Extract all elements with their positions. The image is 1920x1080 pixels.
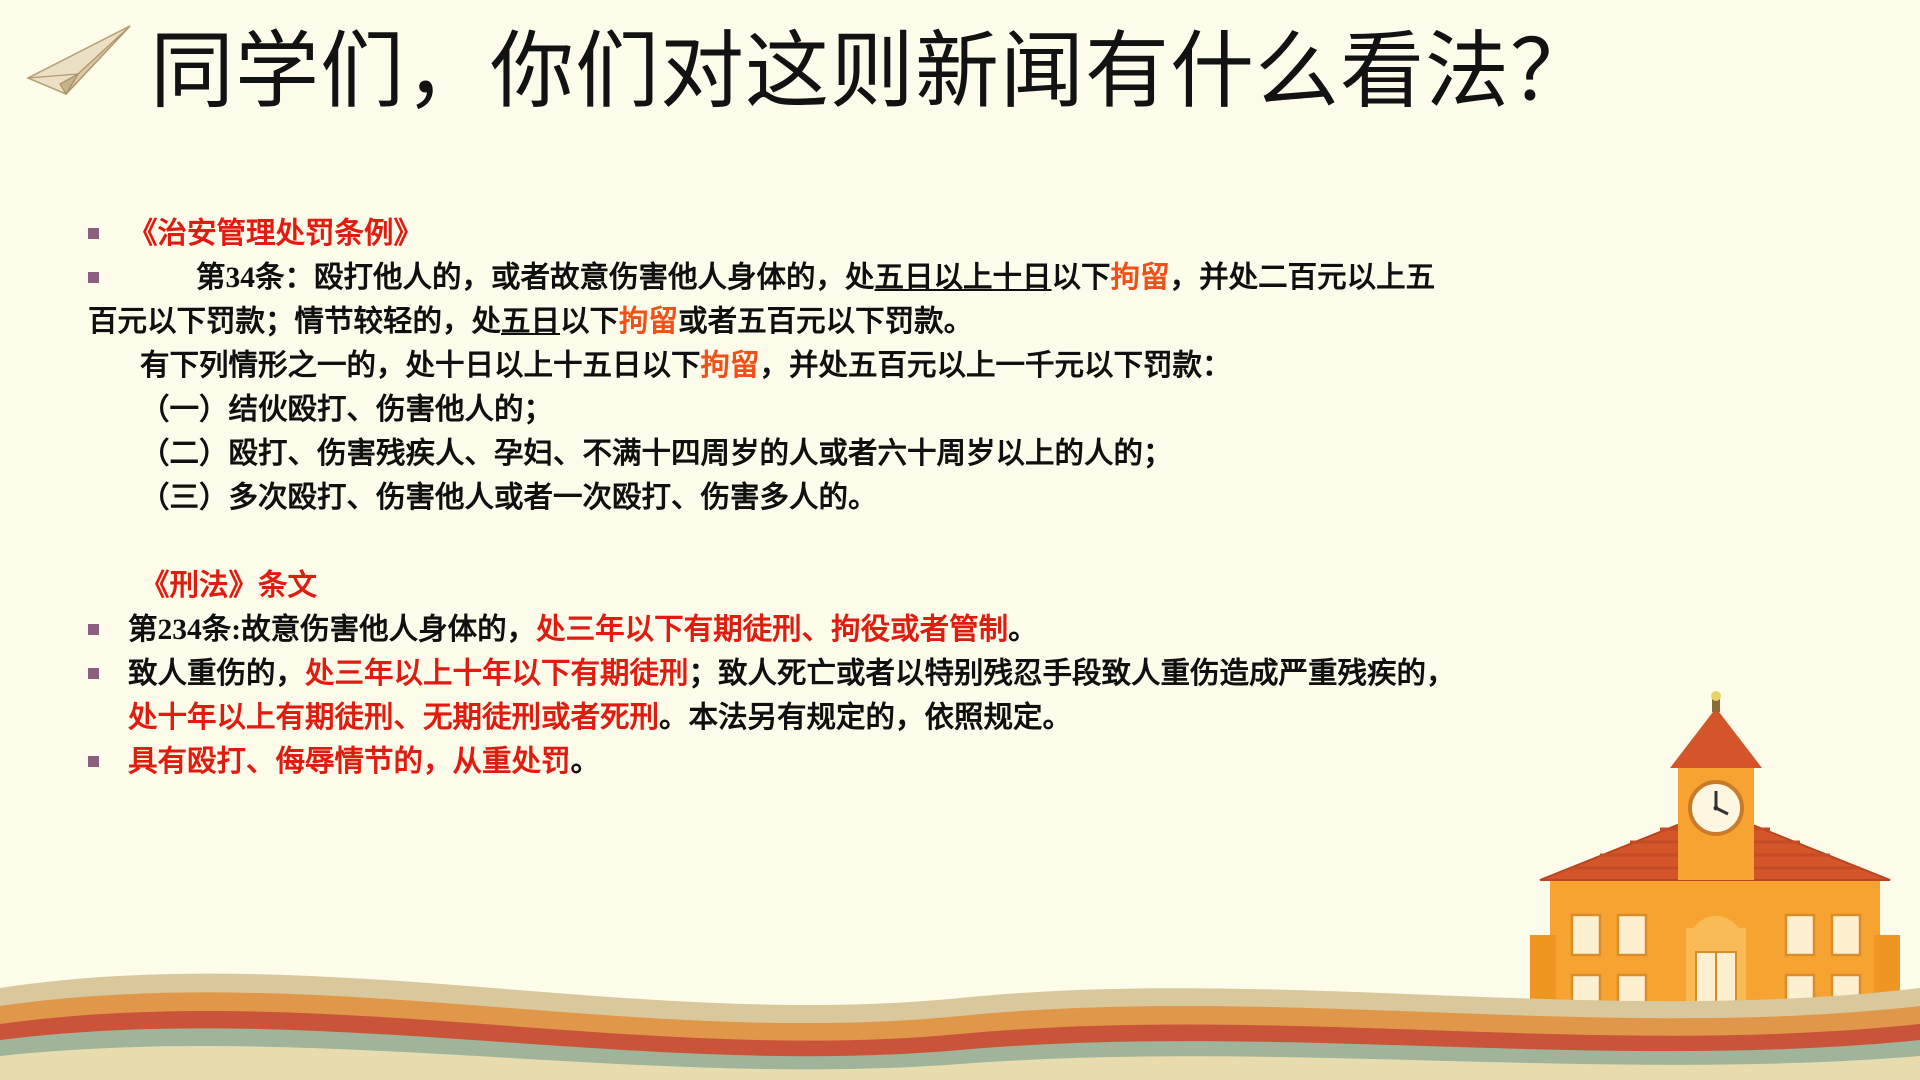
- decorative-waves: [0, 930, 1920, 1080]
- article34-l2-seg1: 百元以下罚款；情节较轻的，处: [0, 300, 501, 344]
- serious-injury-red: 处三年以上十年以下有期徒刑: [305, 652, 689, 696]
- article34-l2-seg3: 以下: [560, 300, 619, 344]
- article234-line: 第234条:故意伤害他人身体的，处三年以下有期徒刑、拘役或者管制。: [0, 608, 1820, 652]
- article34-highlight-2: 拘留: [619, 300, 678, 344]
- article234-red: 处三年以下有期徒刑、拘役或者管制: [536, 608, 1008, 652]
- article34-highlight-1: 拘留: [1111, 256, 1170, 300]
- clause-intro: 有下列情形之一的，处十日以上十五日以下拘留，并处五百元以上一千元以下罚款：: [0, 344, 1820, 388]
- clause-intro-seg3: ，并处五百元以上一千元以下罚款：: [760, 344, 1232, 388]
- clause-intro-highlight: 拘留: [701, 344, 760, 388]
- section-heading-2-text: 《刑法》条文: [0, 564, 317, 608]
- clause-intro-seg1: 有下列情形之一的，处十日以上十五日以下: [0, 344, 701, 388]
- spacer: [0, 520, 1820, 564]
- article234-seg3: 。: [1008, 608, 1038, 652]
- clause-item-1-text: （一）结伙殴打、伤害他人的；: [0, 388, 553, 432]
- article34-seg5: ，并处二百元以上五: [1170, 256, 1436, 300]
- section-heading-1: 《治安管理处罚条例》: [0, 212, 1820, 256]
- article34-seg1: ：殴打他人的，或者故意伤害他人身体的，处: [285, 256, 875, 300]
- slide-canvas: 同学们，你们对这则新闻有什么看法？ 《治安管理处罚条例》 第34条：殴打他人的，…: [0, 0, 1920, 1080]
- aggravating-seg2: 。: [571, 740, 601, 784]
- serious-injury-l2-red: 处十年以上有期徒刑、无期徒刑或者死刑: [0, 696, 659, 740]
- article34-line2: 百元以下罚款；情节较轻的，处五日以下拘留或者五百元以下罚款。: [0, 300, 1820, 344]
- serious-injury-l2-seg2: 。本法另有规定的，依照规定。: [659, 696, 1072, 740]
- clause-item-2-text: （二）殴打、伤害残疾人、孕妇、不满十四周岁的人或者六十周岁以上的人的；: [0, 432, 1173, 476]
- page-title: 同学们，你们对这则新闻有什么看法？: [150, 28, 1595, 119]
- bullet-square-icon: [88, 756, 99, 767]
- section-heading-2: 《刑法》条文: [0, 564, 1820, 608]
- article34-underline-1: 五日以上十日: [875, 256, 1052, 300]
- article34-seg3: 以下: [1052, 256, 1111, 300]
- clause-item-3: （三）多次殴打、伤害他人或者一次殴打、伤害多人的。: [0, 476, 1820, 520]
- serious-injury-seg3: ；致人死亡或者以特别残忍手段致人重伤造成严重残疾的，: [689, 652, 1456, 696]
- article34-underline-2: 五日: [501, 300, 560, 344]
- bullet-square-icon: [88, 272, 99, 283]
- article34-line1: 第34条：殴打他人的，或者故意伤害他人身体的，处五日以上十日以下拘留，并处二百元…: [0, 256, 1820, 300]
- bullet-square-icon: [88, 624, 99, 635]
- paper-plane-icon: [22, 22, 140, 112]
- serious-injury-seg1: 致人重伤的，: [0, 652, 305, 696]
- clause-item-2: （二）殴打、伤害残疾人、孕妇、不满十四周岁的人或者六十周岁以上的人的；: [0, 432, 1820, 476]
- clause-item-3-text: （三）多次殴打、伤害他人或者一次殴打、伤害多人的。: [0, 476, 878, 520]
- clause-item-1: （一）结伙殴打、伤害他人的；: [0, 388, 1820, 432]
- bullet-square-icon: [88, 228, 99, 239]
- bullet-square-icon: [88, 668, 99, 679]
- aggravating-red: 具有殴打、侮辱情节的，从重处罚: [0, 740, 571, 784]
- article34-label: 第34条: [0, 256, 285, 300]
- article34-l2-seg5: 或者五百元以下罚款。: [678, 300, 973, 344]
- article234-seg1: 第234条:故意伤害他人身体的，: [0, 608, 536, 652]
